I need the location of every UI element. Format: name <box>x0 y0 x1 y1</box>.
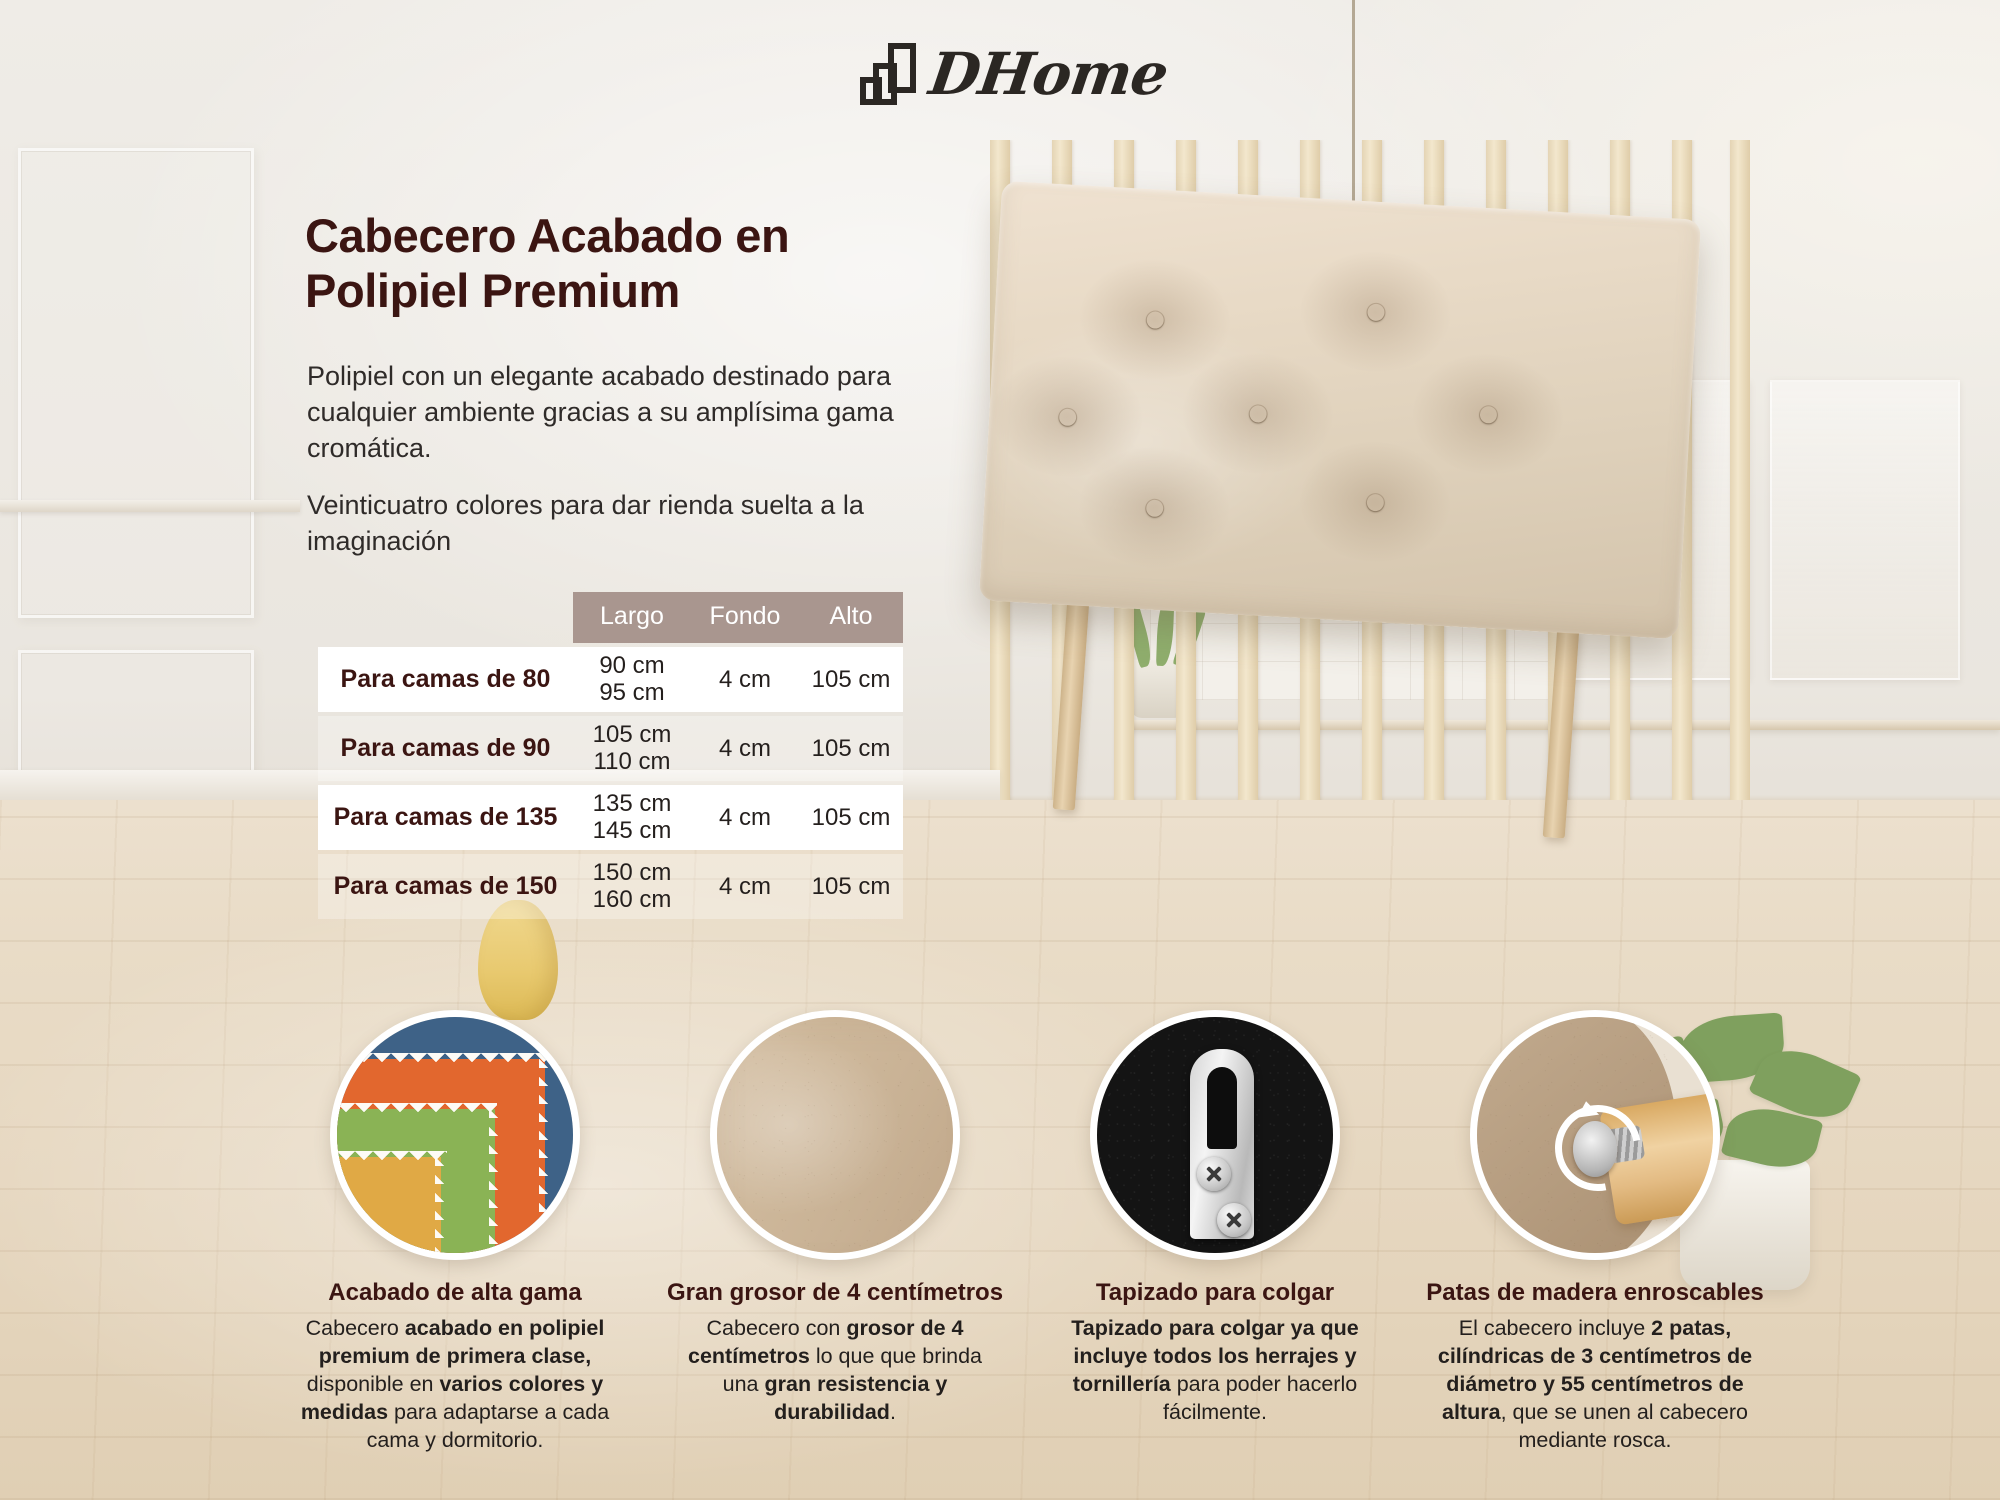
intro-paragraph-1: Polipiel con un elegante acabado destina… <box>307 358 907 467</box>
feature-description: Tapizado para colgar ya que incluye todo… <box>1055 1315 1375 1427</box>
cell-alto: 105 cm <box>799 666 903 694</box>
cell-fondo: 4 cm <box>691 735 799 763</box>
cell-alto: 105 cm <box>799 804 903 832</box>
brand-name: DHome <box>925 40 1172 108</box>
feature-title: Patas de madera enroscables <box>1426 1280 1764 1306</box>
intro-copy: Polipiel con un elegante acabado destina… <box>307 358 907 559</box>
feature-title: Gran grosor de 4 centímetros <box>667 1280 1003 1306</box>
cell-alto: 105 cm <box>799 873 903 901</box>
infographic-canvas: DHome Cabecero Acabado en Polipiel Premi… <box>0 0 2000 1500</box>
feature-item: Gran grosor de 4 centímetros Cabecero co… <box>670 1010 1000 1480</box>
table-row: Para camas de 150150 cm160 cm4 cm105 cm <box>318 854 903 919</box>
headboard-product-photo <box>990 200 1710 800</box>
feature-item: Patas de madera enroscables El cabecero … <box>1430 1010 1760 1480</box>
table-row: Para camas de 90105 cm110 cm4 cm105 cm <box>318 716 903 781</box>
column-header-largo: Largo <box>573 592 691 643</box>
cell-alto: 105 cm <box>799 735 903 763</box>
phillips-screw-icon <box>1197 1157 1231 1191</box>
cell-fondo: 4 cm <box>691 873 799 901</box>
row-label: Para camas de 90 <box>318 734 573 763</box>
fabric-swatches-icon <box>330 1010 580 1260</box>
wall-moulding-panel <box>18 148 254 618</box>
cell-largo: 135 cm145 cm <box>573 791 691 845</box>
intro-paragraph-2: Veinticuatro colores para dar rienda sue… <box>307 487 907 559</box>
row-label: Para camas de 150 <box>318 872 573 901</box>
screw-in-wooden-leg-icon <box>1470 1010 1720 1260</box>
upholstered-headboard <box>979 181 1701 639</box>
feature-description: El cabecero incluye 2 patas, cilíndricas… <box>1435 1315 1755 1455</box>
leather-thickness-icon <box>710 1010 960 1260</box>
phillips-screw-icon <box>1217 1203 1251 1237</box>
table-row: Para camas de 8090 cm95 cm4 cm105 cm <box>318 647 903 712</box>
row-label: Para camas de 135 <box>318 803 573 832</box>
feature-title: Acabado de alta gama <box>328 1280 581 1306</box>
column-header-fondo: Fondo <box>691 592 799 643</box>
cell-fondo: 4 cm <box>691 804 799 832</box>
wall-rail <box>0 500 300 512</box>
page-title: Cabecero Acabado en Polipiel Premium <box>305 208 905 319</box>
overlapping-rectangles-logo-icon <box>860 43 916 105</box>
size-table: Largo Fondo Alto Para camas de 8090 cm95… <box>318 592 903 919</box>
table-row: Para camas de 135135 cm145 cm4 cm105 cm <box>318 785 903 850</box>
size-table-body: Para camas de 8090 cm95 cm4 cm105 cmPara… <box>318 647 903 919</box>
size-table-header-row: Largo Fondo Alto <box>573 592 903 643</box>
feature-list: Acabado de alta gama Cabecero acabado en… <box>290 1010 1760 1480</box>
column-header-alto: Alto <box>799 592 903 643</box>
feature-item: Acabado de alta gama Cabecero acabado en… <box>290 1010 620 1480</box>
row-label: Para camas de 80 <box>318 665 573 694</box>
cell-fondo: 4 cm <box>691 666 799 694</box>
headboard-leg <box>1053 599 1090 810</box>
feature-description: Cabecero acabado en polipiel premium de … <box>295 1315 615 1455</box>
wall-bracket-icon <box>1090 1010 1340 1260</box>
brand-logo: DHome <box>860 40 1167 108</box>
cell-largo: 105 cm110 cm <box>573 722 691 776</box>
feature-title: Tapizado para colgar <box>1096 1280 1334 1306</box>
cabinet-door <box>1770 380 1960 680</box>
feature-item: Tapizado para colgar Tapizado para colga… <box>1050 1010 1380 1480</box>
cell-largo: 150 cm160 cm <box>573 860 691 914</box>
cell-largo: 90 cm95 cm <box>573 653 691 707</box>
feature-description: Cabecero con grosor de 4 centímetros lo … <box>675 1315 995 1427</box>
